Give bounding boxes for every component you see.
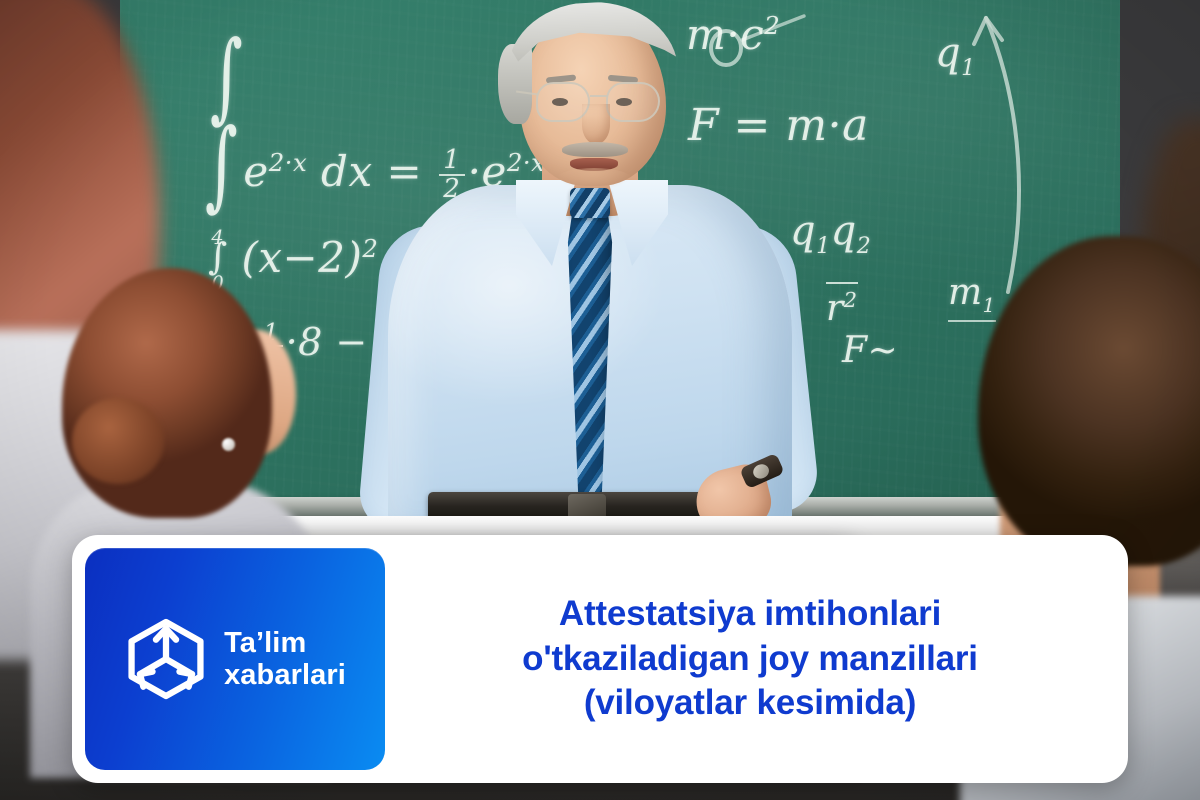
banner-card: Ta’lim xabarlari Attestatsiya imtihonlar…	[72, 535, 1128, 783]
student-center-hair-bun	[72, 398, 164, 484]
headline-line1: Attestatsiya imtihonlari	[522, 592, 978, 637]
headline-line3: (viloyatlar kesimida)	[522, 681, 978, 726]
pearl-earring-icon	[222, 438, 235, 451]
brand-name-line2: xabarlari	[224, 659, 346, 691]
headline-line2: o'tkaziladigan joy manzillari	[522, 637, 978, 682]
banner-image: ∫ ∫e2·x dx = 12·e2·x + C 4∫0 (x−2)2 dx =…	[0, 0, 1200, 800]
chalk-formula-r2: r2	[826, 282, 858, 329]
chalk-formula-f-approx: F~	[842, 330, 898, 371]
chalk-arrow-icon	[900, 0, 1030, 300]
teacher-figure	[370, 0, 810, 540]
headline-container: Attestatsiya imtihonlari o'tkaziladigan …	[385, 538, 1125, 780]
cube-arrows-icon	[124, 617, 208, 701]
brand-name-line1: Ta’lim	[224, 627, 346, 659]
teacher-chin	[556, 168, 632, 190]
headline: Attestatsiya imtihonlari o'tkaziladigan …	[522, 592, 978, 726]
teacher-nose	[582, 104, 610, 144]
brand-badge[interactable]: Ta’lim xabarlari	[85, 548, 385, 770]
chalk-formula-top: ∫	[210, 40, 248, 113]
teacher-moustache	[562, 142, 628, 157]
brand-name: Ta’lim xabarlari	[224, 627, 346, 692]
teacher-tie-knot	[570, 188, 610, 218]
